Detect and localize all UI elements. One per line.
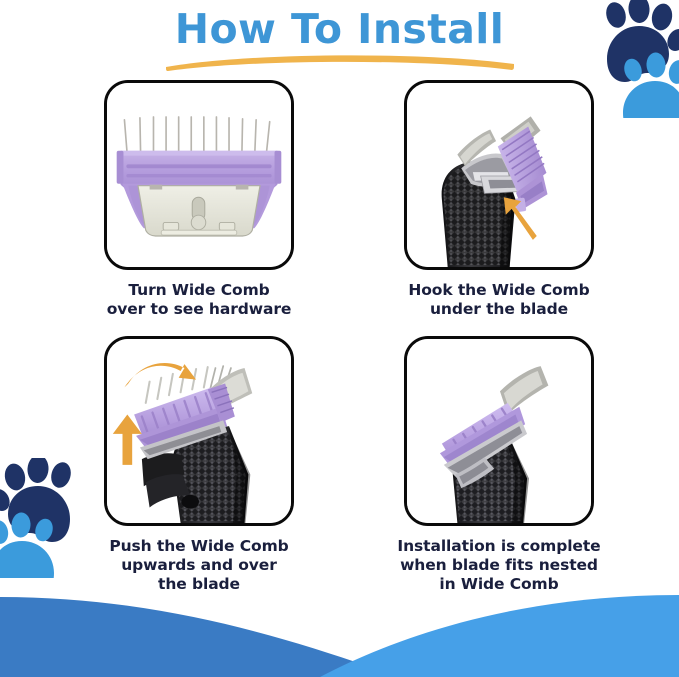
step-2-caption: Hook the Wide Comb under the blade	[360, 281, 638, 319]
step-1-caption-line-2: over to see hardware	[60, 300, 338, 319]
step-panel-4: Installation is complete when blade fits…	[360, 336, 638, 594]
footer-wave-dark	[0, 597, 400, 677]
step-4-caption-line-2: when blade fits nested	[360, 556, 638, 575]
step-panel-1: Turn Wide Comb over to see hardware	[60, 80, 338, 319]
step-4-caption-line-1: Installation is complete	[360, 537, 638, 556]
push-comb-upwards-photo	[107, 339, 291, 523]
step-3-caption: Push the Wide Comb upwards and over the …	[60, 537, 338, 594]
step-3-caption-line-1: Push the Wide Comb	[60, 537, 338, 556]
step-1-caption-line-1: Turn Wide Comb	[60, 281, 338, 300]
step-4-image-frame	[404, 336, 594, 526]
step-1-caption: Turn Wide Comb over to see hardware	[60, 281, 338, 319]
step-4-caption-line-3: in Wide Comb	[360, 575, 638, 594]
step-3-caption-line-2: upwards and over	[60, 556, 338, 575]
how-to-install-infographic: How To Install	[0, 0, 679, 677]
step-2-caption-line-2: under the blade	[360, 300, 638, 319]
footer-wave-banner	[0, 581, 679, 677]
hook-comb-under-blade-photo	[407, 83, 591, 267]
step-3-image-frame	[104, 336, 294, 526]
footer-wave-light	[320, 595, 679, 677]
page-title: How To Install	[0, 4, 679, 54]
step-panel-2: Hook the Wide Comb under the blade	[360, 80, 638, 319]
step-2-image-frame	[404, 80, 594, 270]
installation-complete-photo	[407, 339, 591, 523]
title-block: How To Install	[0, 4, 679, 54]
step-panel-3: Push the Wide Comb upwards and over the …	[60, 336, 338, 594]
step-1-image-frame	[104, 80, 294, 270]
step-3-caption-line-3: the blade	[60, 575, 338, 594]
step-4-caption: Installation is complete when blade fits…	[360, 537, 638, 594]
paw-print-light-icon	[0, 512, 55, 578]
step-2-caption-line-1: Hook the Wide Comb	[360, 281, 638, 300]
wide-comb-underside-photo	[107, 83, 291, 267]
